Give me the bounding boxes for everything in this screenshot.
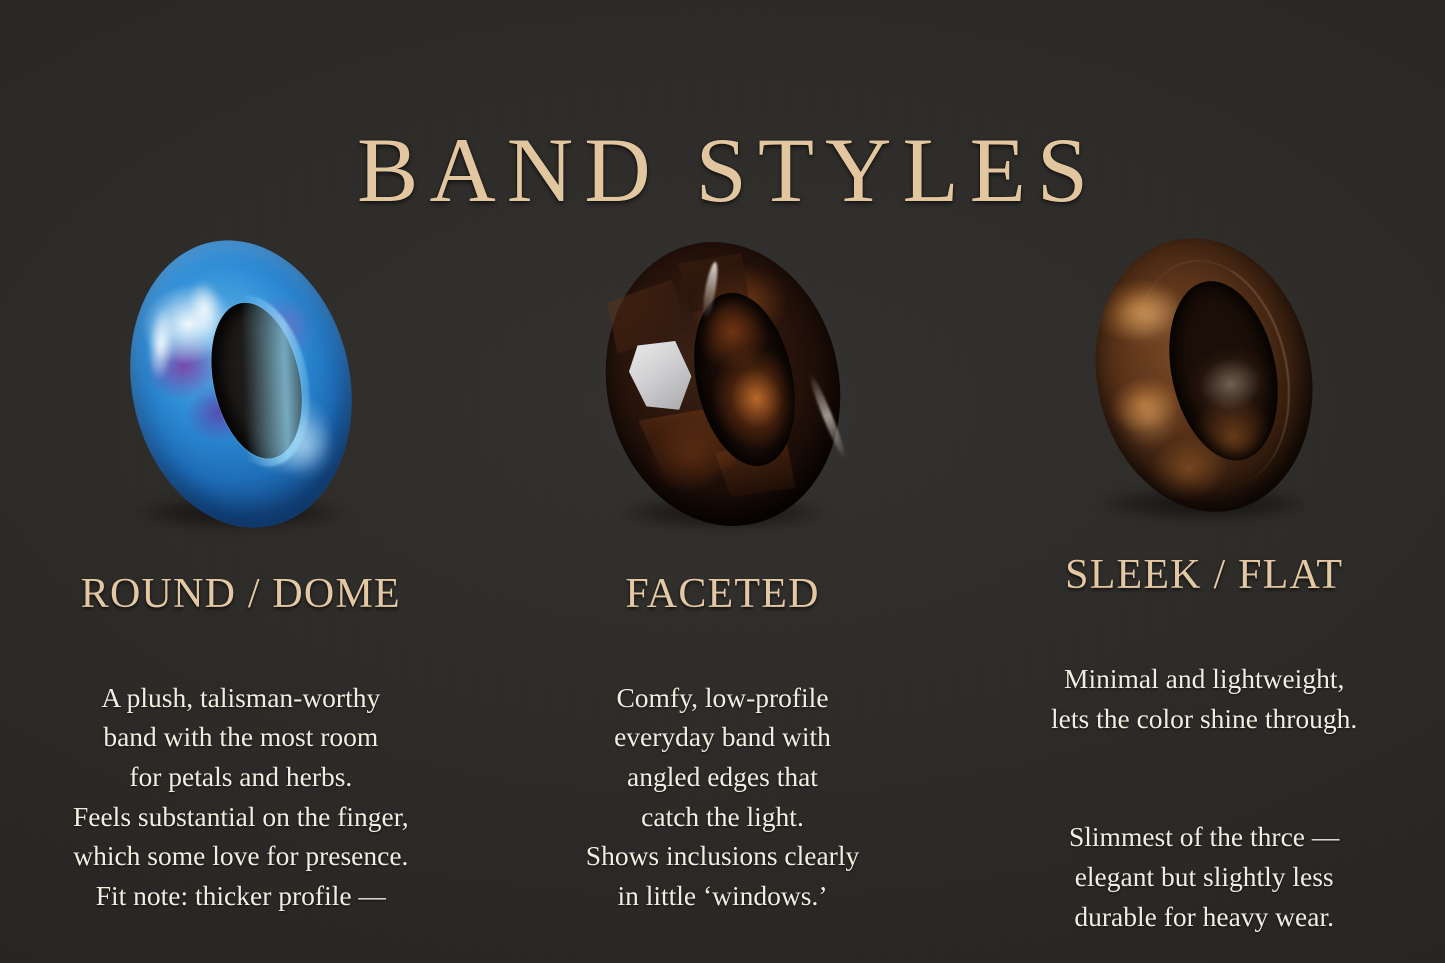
- column-heading-sleek-flat: SLEEK / FLAT: [1065, 553, 1343, 598]
- body-paragraph: Slimmest of the thrce — elegant but slig…: [1051, 817, 1357, 936]
- style-columns: ROUND / DOME A plush, talisman-worthy ba…: [0, 215, 1445, 955]
- style-column-faceted: FACETED Comfy, low-profile everyday band…: [482, 215, 964, 955]
- band-styles-poster: BAND STYLES ROUND / DOME: [0, 0, 1445, 963]
- dome-ring-illustration: [104, 220, 378, 549]
- column-body-round-dome: A plush, talisman-worthy band with the m…: [73, 638, 409, 955]
- column-body-faceted: Comfy, low-profile everyday band with an…: [586, 638, 859, 955]
- body-paragraph: Minimal and lightweight, lets the color …: [1051, 659, 1357, 738]
- page-title: BAND STYLES: [0, 124, 1445, 216]
- style-column-round-dome: ROUND / DOME A plush, talisman-worthy ba…: [0, 215, 482, 955]
- ring-image-round-dome: [0, 215, 482, 554]
- body-paragraph: A plush, talisman-worthy band with the m…: [73, 678, 409, 916]
- ring-image-faceted: [482, 215, 964, 554]
- column-heading-faceted: FACETED: [625, 572, 819, 617]
- flat-ring-illustration: [1071, 218, 1338, 532]
- style-column-sleek-flat: SLEEK / FLAT Minimal and lightweight, le…: [963, 215, 1445, 955]
- column-body-sleek-flat: Minimal and lightweight, lets the color …: [1051, 620, 1357, 963]
- column-heading-round-dome: ROUND / DOME: [81, 572, 401, 617]
- body-paragraph: Comfy, low-profile everyday band with an…: [586, 678, 859, 916]
- faceted-ring-illustration: [579, 220, 865, 548]
- ring-image-sleek-flat: [963, 215, 1445, 535]
